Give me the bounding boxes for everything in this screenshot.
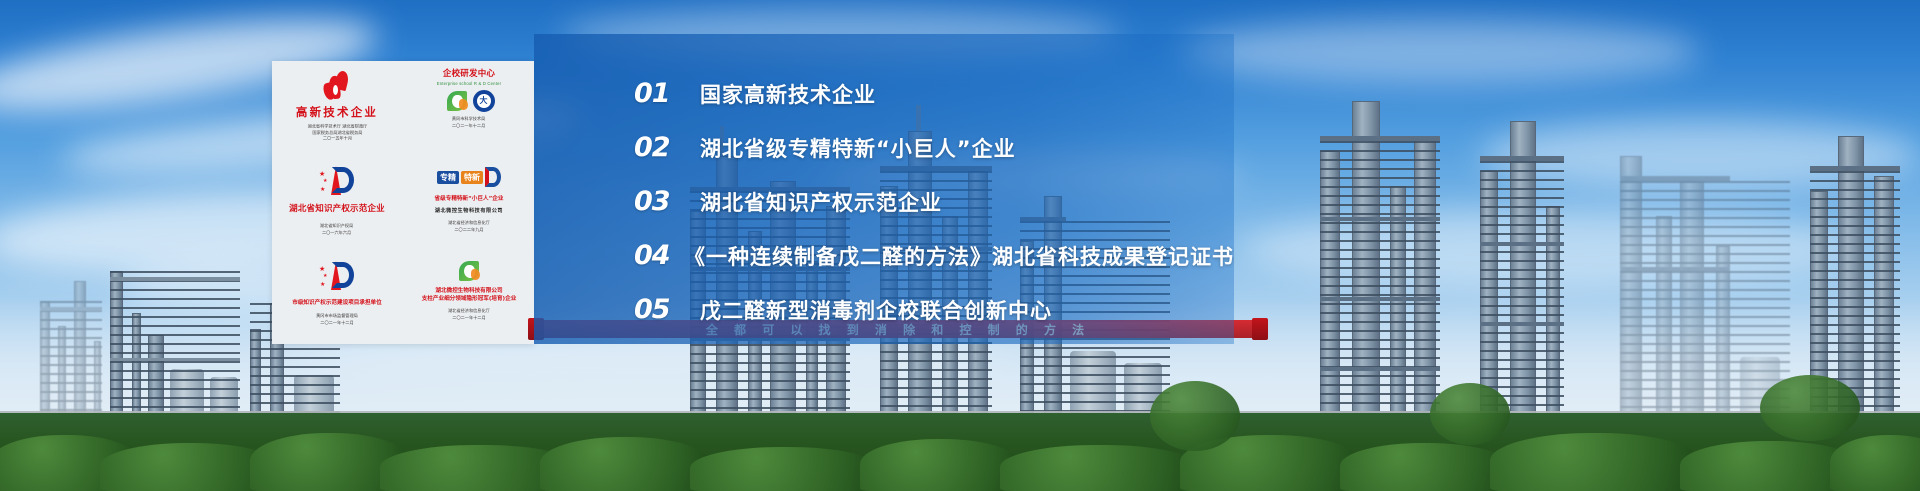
palm-crown xyxy=(1760,375,1860,441)
hedge xyxy=(860,439,1020,491)
certificate-card[interactable]: ★★★ 市级知识产权示范建设项目承担单位 黄冈市市场监督管理局 二〇二一年十二月 xyxy=(272,251,402,344)
certificate-title: 企校研发中心 xyxy=(443,70,495,80)
honor-item[interactable]: 02 湖北省级专精特新“小巨人”企业 xyxy=(634,132,1234,163)
honor-label: 湖北省知识产权示范企业 xyxy=(700,187,942,217)
issuer-line: 黄冈市科学技术局 xyxy=(452,117,485,123)
certificate-card[interactable]: 湖北微控生物科技有限公司 支柱产业细分领域隐形冠军(培育)企业 湖北省经济和信息… xyxy=(404,251,534,344)
honor-label: 湖北省级专精特新“小巨人”企业 xyxy=(700,133,1016,163)
certificate-grid-panel: 高新技术企业 湖北省科学技术厅 湖北省财政厅 国家税务总局湖北省税务局 二〇一五… xyxy=(272,61,534,344)
hedge xyxy=(1340,443,1510,491)
certificate-issuer: 湖北省经济和信息化厅 二〇二二年九月 xyxy=(448,221,490,234)
zhuanjing-texin-icon: 专精特新 xyxy=(437,163,501,191)
issuer-date: 二〇二一年十二月 xyxy=(316,321,358,327)
certificate-card[interactable]: ★★★ 湖北省知识产权示范企业 湖北省知识产权局 二〇一六年六月 xyxy=(272,156,402,249)
sail-ip-icon: ★★★ xyxy=(319,258,355,294)
certificate-card[interactable]: 高新技术企业 湖北省科学技术厅 湖北省财政厅 国家税务总局湖北省税务局 二〇一五… xyxy=(272,61,402,154)
certificate-issuer: 湖北省知识产权局 二〇一六年六月 xyxy=(320,224,353,237)
certificate-card[interactable]: 企校研发中心 Enterprise school R & D Center 大 … xyxy=(404,61,534,154)
partner-logos: 大 xyxy=(444,88,495,114)
issuer-line: 湖北省经济和信息化厅 xyxy=(448,221,490,227)
hedge xyxy=(690,447,880,491)
certificate-title: 省级专精特新“小巨人”企业 xyxy=(435,196,504,202)
issuer-line: 湖北省科学技术厅 湖北省财政厅 xyxy=(307,125,367,131)
certificate-subtitle: 支柱产业细分领域隐形冠军(培育)企业 xyxy=(422,296,517,302)
scroll-cap-right xyxy=(1252,318,1268,340)
certificate-title-en: Enterprise school R & D Center xyxy=(437,81,501,86)
certificate-card[interactable]: 专精特新 省级专精特新“小巨人”企业 湖北微控生物科技有限公司 湖北省经济和信息… xyxy=(404,156,534,249)
certificate-issuer: 湖北省经济和信息化厅 二〇二一年十二月 xyxy=(448,309,490,322)
honor-label: 《一种连续制备戊二醛的方法》湖北省科技成果登记证书 xyxy=(684,241,1234,271)
certificate-issuer: 黄冈市市场监督管理局 二〇二一年十二月 xyxy=(316,315,358,328)
honor-number: 03 xyxy=(634,186,700,217)
honor-item[interactable]: 05 戊二醛新型消毒剂企校联合创新中心 xyxy=(634,294,1234,325)
certificate-issuer: 湖北省科学技术厅 湖北省财政厅 国家税务总局湖北省税务局 二〇一五年十月 xyxy=(307,125,367,144)
leaf-logo-icon xyxy=(456,258,482,284)
university-seal-icon: 大 xyxy=(473,90,495,112)
issuer-date: 二〇一六年六月 xyxy=(320,230,353,236)
leaf-logo-icon xyxy=(444,89,470,113)
honor-number: 02 xyxy=(634,132,700,163)
issuer-date: 二〇二二年九月 xyxy=(448,227,490,233)
hedge xyxy=(1830,435,1920,491)
palm-crown xyxy=(1430,383,1510,445)
issuer-line: 湖北省知识产权局 xyxy=(320,224,353,230)
issuer-date: 二〇一五年十月 xyxy=(307,137,367,143)
certificate-company: 湖北微控生物科技有限公司 xyxy=(435,208,503,216)
certificate-title: 市级知识产权示范建设项目承担单位 xyxy=(292,300,382,306)
certificate-title: 高新技术企业 xyxy=(296,106,378,119)
sail-ip-icon: ★★★ xyxy=(319,163,355,199)
honor-number: 05 xyxy=(634,294,700,325)
certificate-title: 湖北微控生物科技有限公司 xyxy=(435,288,502,294)
honors-overlay-panel: 01 国家高新技术企业 02 湖北省级专精特新“小巨人”企业 03 湖北省知识产… xyxy=(534,34,1234,344)
honor-number: 04 xyxy=(634,240,684,271)
honor-label: 国家高新技术企业 xyxy=(700,79,876,109)
honor-item[interactable]: 04 《一种连续制备戊二醛的方法》湖北省科技成果登记证书 xyxy=(634,240,1234,271)
honor-item[interactable]: 03 湖北省知识产权示范企业 xyxy=(634,186,1234,217)
certificate-title: 湖北省知识产权示范企业 xyxy=(289,205,385,215)
honor-label: 戊二醛新型消毒剂企校联合创新中心 xyxy=(700,295,1052,325)
honor-item[interactable]: 01 国家高新技术企业 xyxy=(634,78,1234,109)
issuer-date: 二〇二一年十二月 xyxy=(448,315,490,321)
issuer-line: 湖北省经济和信息化厅 xyxy=(448,309,490,315)
palm-crown xyxy=(1150,381,1240,451)
hedge xyxy=(1490,433,1700,491)
certificate-issuer: 黄冈市科学技术局 二〇二一年十二月 xyxy=(452,117,485,130)
hedge xyxy=(1000,445,1200,491)
hedge xyxy=(540,437,710,491)
honor-number: 01 xyxy=(634,78,700,109)
flame-icon xyxy=(323,68,351,104)
issuer-date: 二〇二一年十二月 xyxy=(452,123,485,129)
